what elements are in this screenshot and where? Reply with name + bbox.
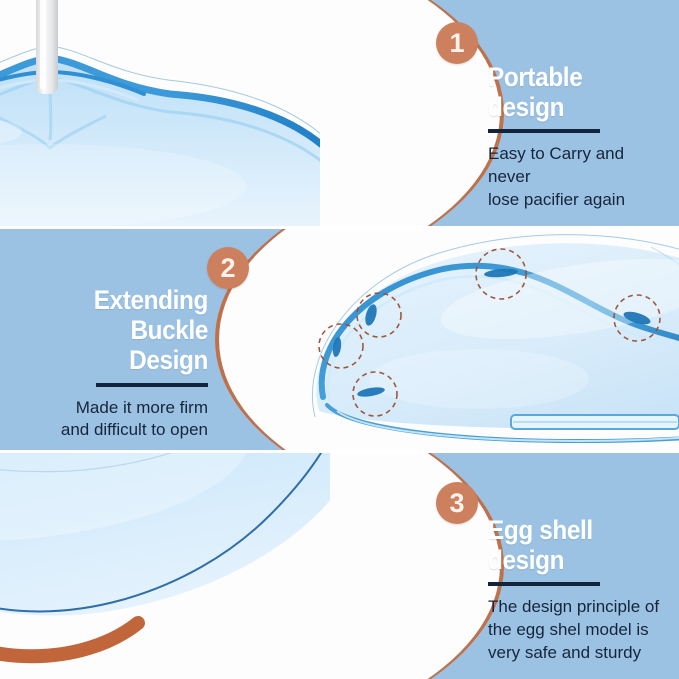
feature-text-3: Egg shell design The design principle of…: [488, 515, 678, 664]
heading-rule-3: [488, 582, 600, 586]
product-photo-region-2: [219, 229, 679, 450]
feature-heading-1: Portable design: [488, 62, 650, 122]
step-badge-1: 1: [436, 22, 478, 64]
feature-heading-3: Egg shell design: [488, 515, 659, 575]
feature-heading-2: Extending Buckle Design: [32, 285, 208, 376]
product-image-3: [0, 453, 330, 669]
feature-panel-1: 1 Portable design Easy to Carry and neve…: [0, 0, 679, 226]
feature-panel-2: 2 Extending Buckle Design Made it more f…: [0, 229, 679, 450]
heading-rule-2: [96, 383, 208, 387]
feature-text-1: Portable design Easy to Carry and never …: [488, 62, 668, 211]
feature-body-1: Easy to Carry and never lose pacifier ag…: [488, 143, 668, 211]
product-image-2: [279, 229, 679, 450]
product-image-1: [0, 0, 320, 226]
feature-panel-3: 3 Egg shell design The design principle …: [0, 453, 679, 679]
feature-body-3: The design principle of the egg shel mod…: [488, 596, 678, 664]
product-photo-region-1: [0, 0, 500, 226]
step-badge-2: 2: [207, 247, 249, 289]
feature-body-2: Made it more firm and difficult to open: [12, 397, 208, 442]
feature-text-2: Extending Buckle Design Made it more fir…: [12, 285, 208, 442]
step-badge-3: 3: [436, 482, 478, 524]
heading-rule-1: [488, 129, 600, 133]
buckle-callout-group: [319, 249, 679, 429]
product-infographic: 1 Portable design Easy to Carry and neve…: [0, 0, 679, 679]
product-photo-region-3: [0, 453, 500, 679]
